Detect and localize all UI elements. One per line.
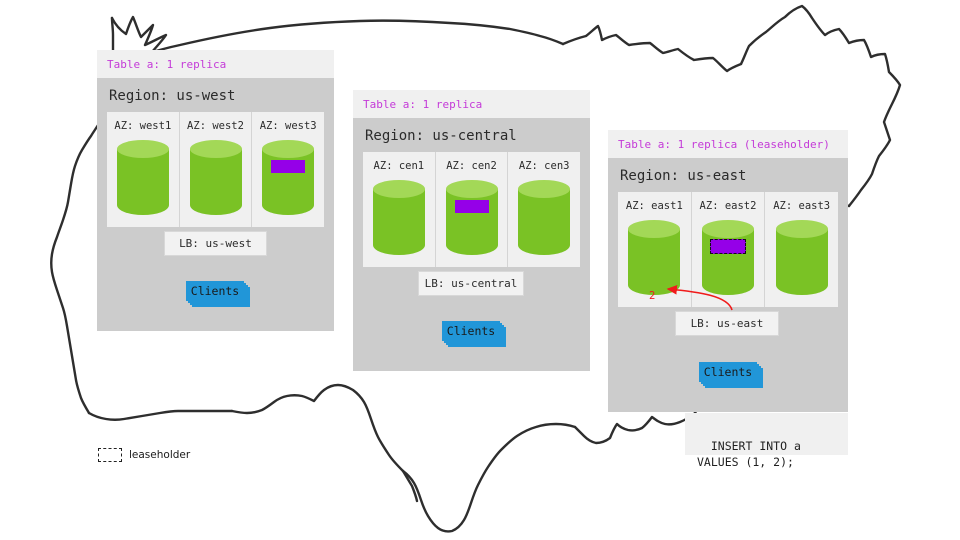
- node-cylinder-east2[interactable]: [702, 220, 754, 295]
- lb-label: LB: us-east: [691, 317, 764, 330]
- cylinder-body: [628, 229, 680, 295]
- az-label: AZ: west1: [114, 120, 171, 132]
- clients-button-us-central[interactable]: Clients: [442, 321, 500, 341]
- clients-button-us-east[interactable]: Clients: [699, 362, 757, 382]
- panel-header-us-east: Table a: 1 replica (leaseholder): [608, 130, 848, 158]
- replica-header-label: Table a: 1 replica (leaseholder): [618, 138, 830, 151]
- clients-stack-us-east[interactable]: Clients: [699, 362, 767, 390]
- cylinder-top: [117, 140, 169, 158]
- cylinder-top: [373, 180, 425, 198]
- leaseholder-block-east2: [710, 239, 746, 254]
- legend-leaseholder: leaseholder: [98, 448, 190, 462]
- panel-header-us-west: Table a: 1 replica: [97, 50, 334, 78]
- cylinder-top: [702, 220, 754, 238]
- load-balancer-us-west[interactable]: LB: us-west: [164, 231, 267, 256]
- node-cylinder-cen2[interactable]: [446, 180, 498, 255]
- region-title-us-east: Region: us-east: [608, 158, 848, 192]
- cylinder-top: [262, 140, 314, 158]
- clients-button-us-west[interactable]: Clients: [186, 281, 244, 301]
- az-row-us-central: AZ: cen1 AZ: cen2 AZ: cen3: [363, 152, 580, 267]
- clients-stack-us-west[interactable]: Clients: [186, 281, 254, 309]
- az-cell-east3[interactable]: AZ: east3: [765, 192, 838, 307]
- node-cylinder-cen3[interactable]: [518, 180, 570, 255]
- region-title-us-west: Region: us-west: [97, 78, 334, 112]
- node-cylinder-west1[interactable]: [117, 140, 169, 215]
- node-cylinder-east1[interactable]: [628, 220, 680, 295]
- az-label: AZ: cen2: [446, 160, 497, 172]
- az-label: AZ: cen1: [374, 160, 425, 172]
- cylinder-top: [776, 220, 828, 238]
- sql-statement-box: INSERT INTO a VALUES (1, 2);: [685, 413, 848, 455]
- load-balancer-us-central[interactable]: LB: us-central: [418, 271, 524, 296]
- az-cell-cen1[interactable]: AZ: cen1: [363, 152, 436, 267]
- panel-header-us-central: Table a: 1 replica: [353, 90, 590, 118]
- lb-label: LB: us-west: [179, 237, 252, 250]
- replica-header-label: Table a: 1 replica: [107, 58, 226, 71]
- node-cylinder-west2[interactable]: [190, 140, 242, 215]
- cylinder-body: [518, 189, 570, 255]
- dashed-rectangle-icon: [98, 448, 122, 462]
- cylinder-body: [373, 189, 425, 255]
- az-cell-west3[interactable]: AZ: west3: [252, 112, 324, 227]
- cylinder-body: [776, 229, 828, 295]
- clients-label: Clients: [447, 324, 495, 338]
- cylinder-top: [518, 180, 570, 198]
- replica-header-label: Table a: 1 replica: [363, 98, 482, 111]
- lb-label: LB: us-central: [425, 277, 518, 290]
- az-label: AZ: west3: [260, 120, 317, 132]
- replica-block-west3: [271, 160, 305, 173]
- cylinder-top: [190, 140, 242, 158]
- region-title-us-central: Region: us-central: [353, 118, 590, 152]
- az-label: AZ: cen3: [519, 160, 570, 172]
- az-cell-cen2[interactable]: AZ: cen2: [436, 152, 509, 267]
- cylinder-top: [446, 180, 498, 198]
- az-cell-west1[interactable]: AZ: west1: [107, 112, 180, 227]
- az-row-us-west: AZ: west1 AZ: west2 AZ: west3: [107, 112, 324, 227]
- az-cell-cen3[interactable]: AZ: cen3: [508, 152, 580, 267]
- cylinder-body: [262, 149, 314, 215]
- az-label: AZ: east3: [773, 200, 830, 212]
- clients-stack-us-central[interactable]: Clients: [442, 321, 510, 349]
- cylinder-body: [446, 189, 498, 255]
- az-cell-west2[interactable]: AZ: west2: [180, 112, 253, 227]
- node-cylinder-west3[interactable]: [262, 140, 314, 215]
- node-cylinder-east3[interactable]: [776, 220, 828, 295]
- az-label: AZ: west2: [187, 120, 244, 132]
- az-cell-east2[interactable]: AZ: east2: [692, 192, 766, 307]
- annotation-step-number: 2: [649, 290, 655, 302]
- cylinder-body: [117, 149, 169, 215]
- replica-block-cen2: [455, 200, 489, 213]
- clients-label: Clients: [704, 365, 752, 379]
- az-label: AZ: east1: [626, 200, 683, 212]
- az-label: AZ: east2: [700, 200, 757, 212]
- legend-label: leaseholder: [129, 449, 190, 461]
- node-cylinder-cen1[interactable]: [373, 180, 425, 255]
- clients-label: Clients: [191, 284, 239, 298]
- load-balancer-us-east[interactable]: LB: us-east: [675, 311, 779, 336]
- sql-text: INSERT INTO a VALUES (1, 2);: [697, 439, 801, 470]
- cylinder-top: [628, 220, 680, 238]
- cylinder-body: [190, 149, 242, 215]
